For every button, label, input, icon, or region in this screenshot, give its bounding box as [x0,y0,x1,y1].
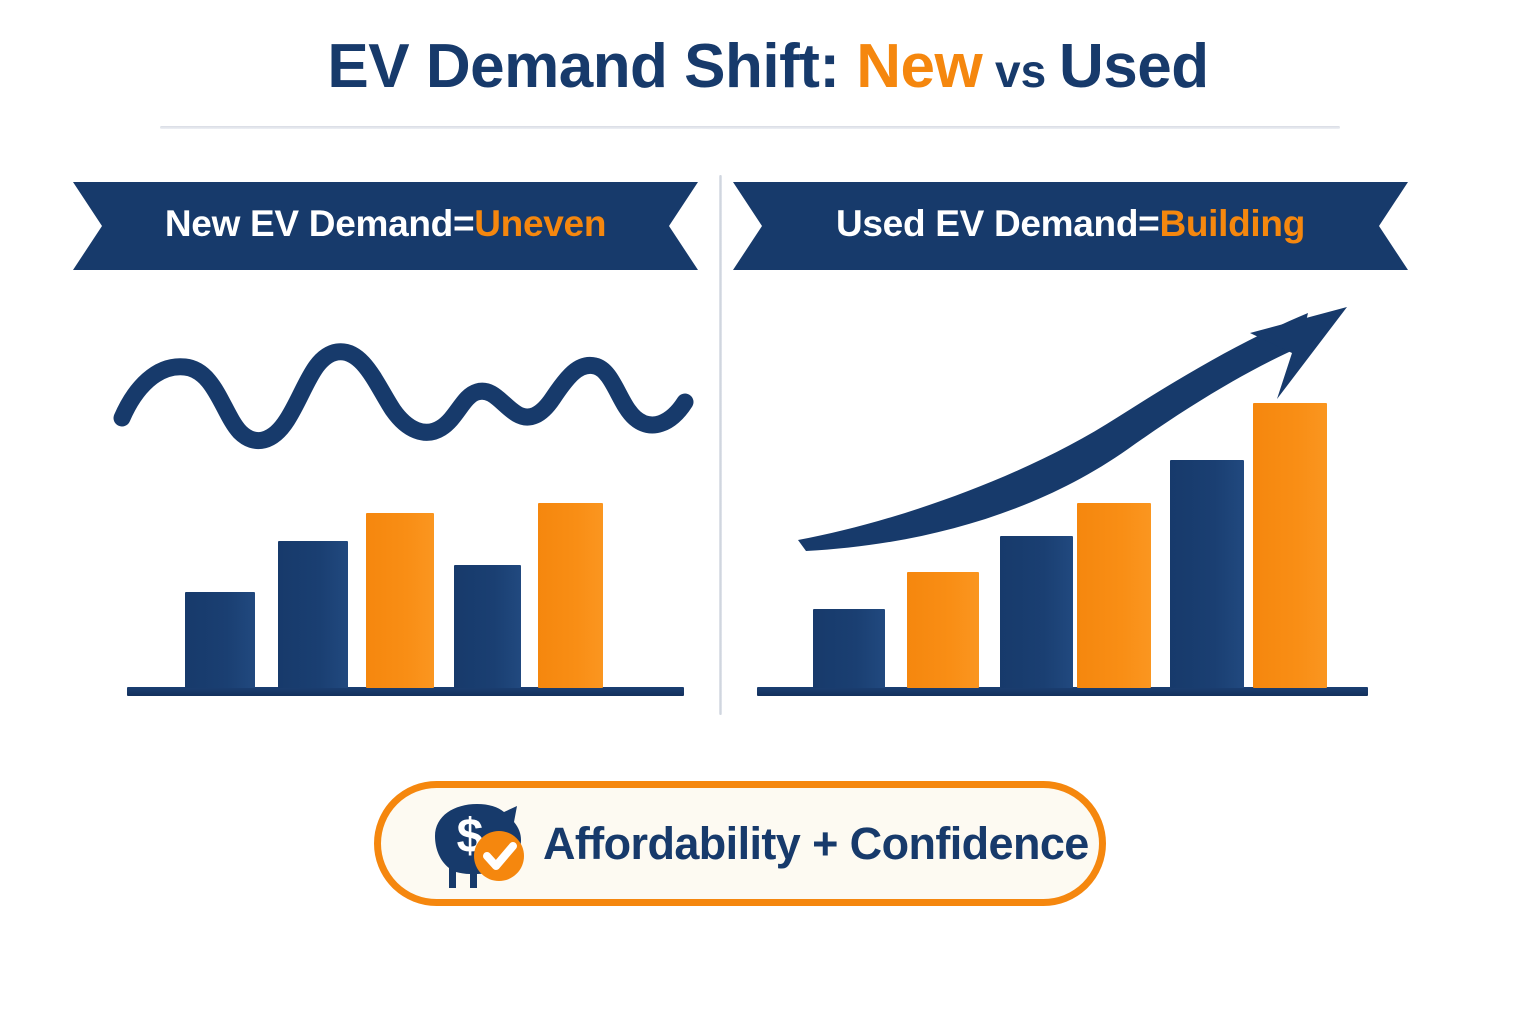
infographic-canvas: EV Demand Shift: New vs Used New EV Dema… [0,0,1536,1024]
chart-used-ev-demand [720,0,1536,760]
bar-right-2 [907,572,979,688]
piggy-bank-check-icon: $ [425,798,529,890]
bar-left-4 [454,565,521,688]
bar-left-3 [366,513,434,688]
wavy-erratic-line-icon [105,340,705,460]
bar-right-6 [1253,403,1327,688]
badge-label: Affordability + Confidence [543,818,1089,870]
bar-right-1 [813,609,885,688]
left-chart-baseline [127,687,684,696]
bar-right-3 [1000,536,1073,688]
bar-right-5 [1170,460,1244,688]
affordability-confidence-badge[interactable]: $ Affordability + Confidence [374,781,1106,906]
chart-new-ev-demand [0,0,720,760]
bar-left-1 [185,592,255,688]
bar-right-4 [1077,503,1151,688]
bar-left-2 [278,541,348,688]
right-chart-baseline [757,687,1368,696]
bar-left-5 [538,503,603,688]
